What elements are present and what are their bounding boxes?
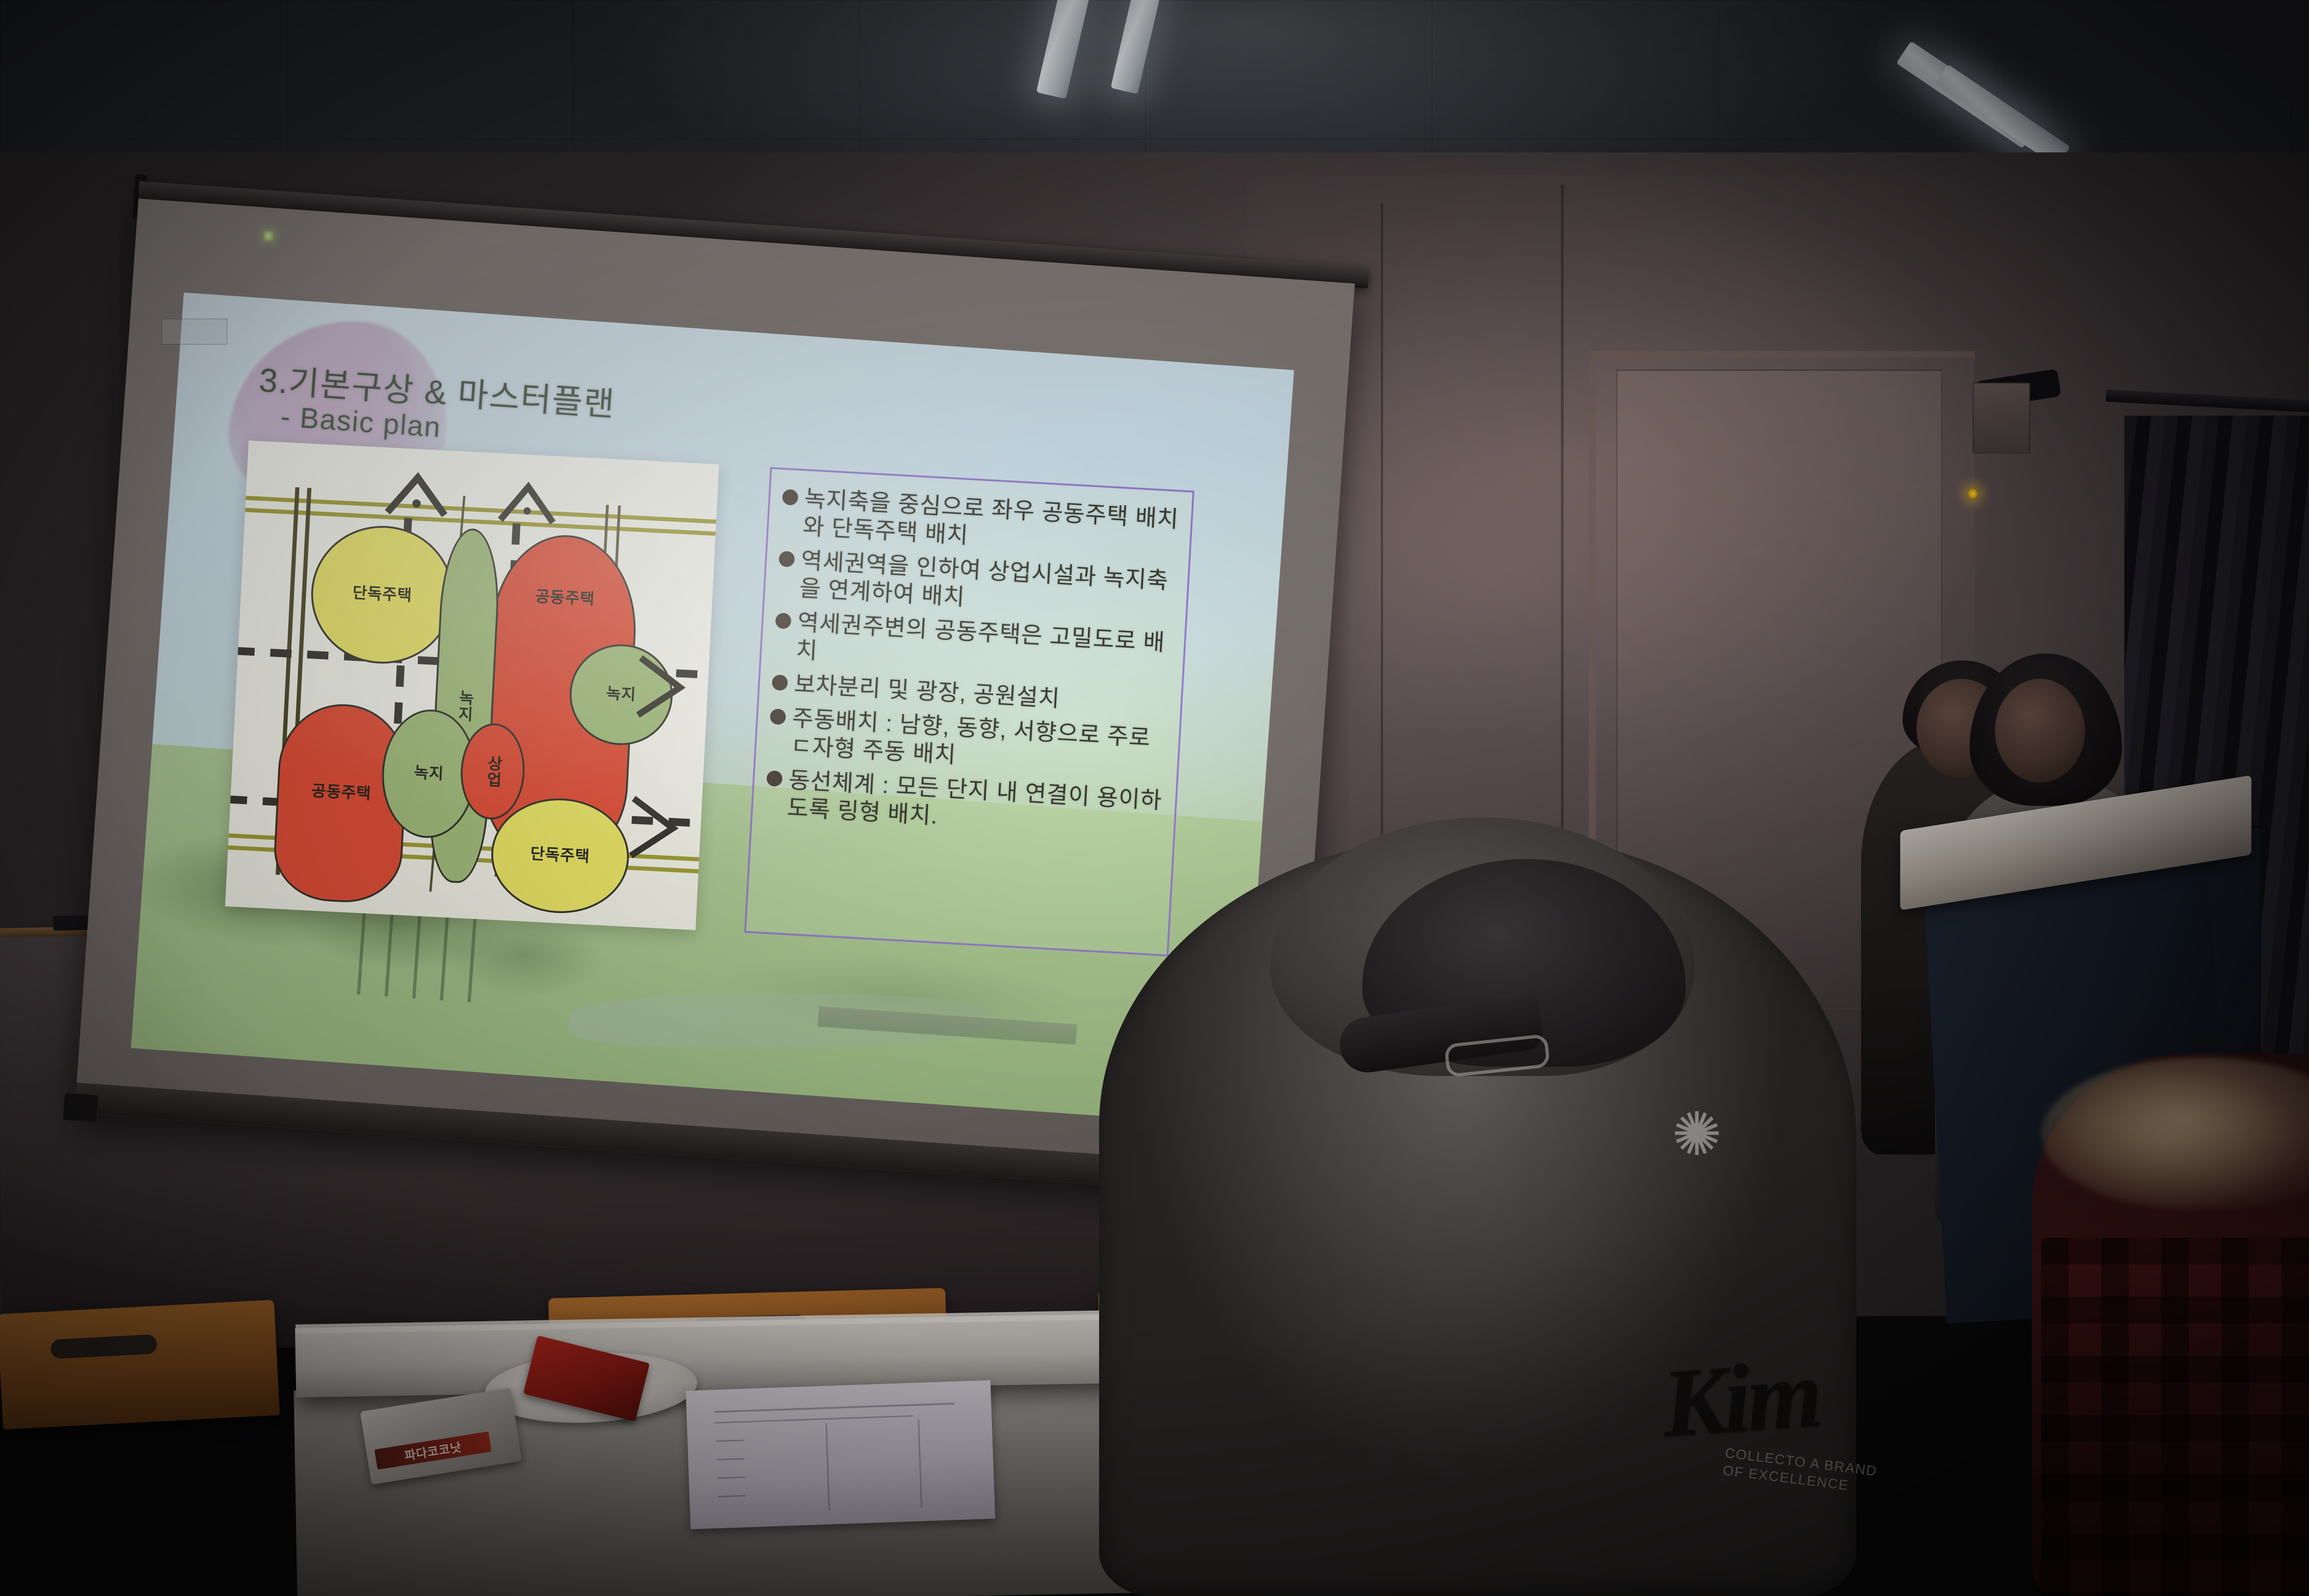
audience-right-plaid-sleeve (2041, 1238, 2309, 1596)
zone-label: 공동주택 (535, 589, 595, 608)
lectern-nameplate (162, 319, 227, 345)
snowflake-icon: ✺ (1672, 1099, 1722, 1169)
chair-back-left (0, 1300, 280, 1429)
snack-label: 파다코코낫 (375, 1432, 492, 1470)
photo-scene: 3.기본구상 & 마스터플랜 - Basic plan (0, 0, 2309, 1596)
bullet-dot-icon (782, 489, 798, 506)
lectern-indicator-led-icon (263, 231, 273, 241)
hoodie-logo-script: Kim (1659, 1338, 1823, 1460)
zone-label: 녹지 (455, 689, 473, 722)
zone-label: 녹지 (414, 765, 444, 783)
bullet-dot-icon (779, 551, 795, 568)
hoodie-logo-tagline: COLLECTO A BRAND OF EXCELLENCE (1722, 1445, 1887, 1499)
zone-detached-housing-upper: 단독주택 (308, 522, 457, 667)
circulation-arrow-icon (629, 652, 692, 726)
zone-label: 단독주택 (352, 585, 413, 605)
slide-bullet-panel: 녹지축을 중심으로 좌우 공동주택 배치와 단독주택 배치 역세권역을 인하여 … (744, 467, 1194, 956)
bullet-text: 동선체계 : 모든 단지 내 연결이 용이하도록 링형 배치. (786, 766, 1164, 842)
bullet-dot-icon (775, 612, 792, 629)
screen-left-tab (63, 1093, 98, 1122)
handout-papers (686, 1380, 995, 1529)
wall-control-device[interactable] (1973, 382, 2030, 453)
circulation-arrow-icon (621, 792, 685, 867)
zone-label: 공동주택 (311, 783, 372, 803)
zone-label: 단독주택 (530, 846, 590, 865)
hoodie-brand-logo: Kim COLLECTO A BRAND OF EXCELLENCE (1659, 1330, 1934, 1588)
bullet-dot-icon (772, 674, 788, 691)
projected-slide: 3.기본구상 & 마스터플랜 - Basic plan (131, 292, 1294, 1125)
lectern (1898, 804, 2254, 1090)
status-led-icon (1968, 489, 1977, 499)
zone-label: 상업 (484, 755, 502, 788)
presenter-speaking-head (1995, 679, 2085, 783)
basic-plan-diagram: 단독주택 공동주택 녹지 녹지 공동주택 녹지 상업 (225, 441, 719, 930)
bullet-dot-icon (766, 770, 783, 787)
bullet-dot-icon (770, 708, 786, 725)
